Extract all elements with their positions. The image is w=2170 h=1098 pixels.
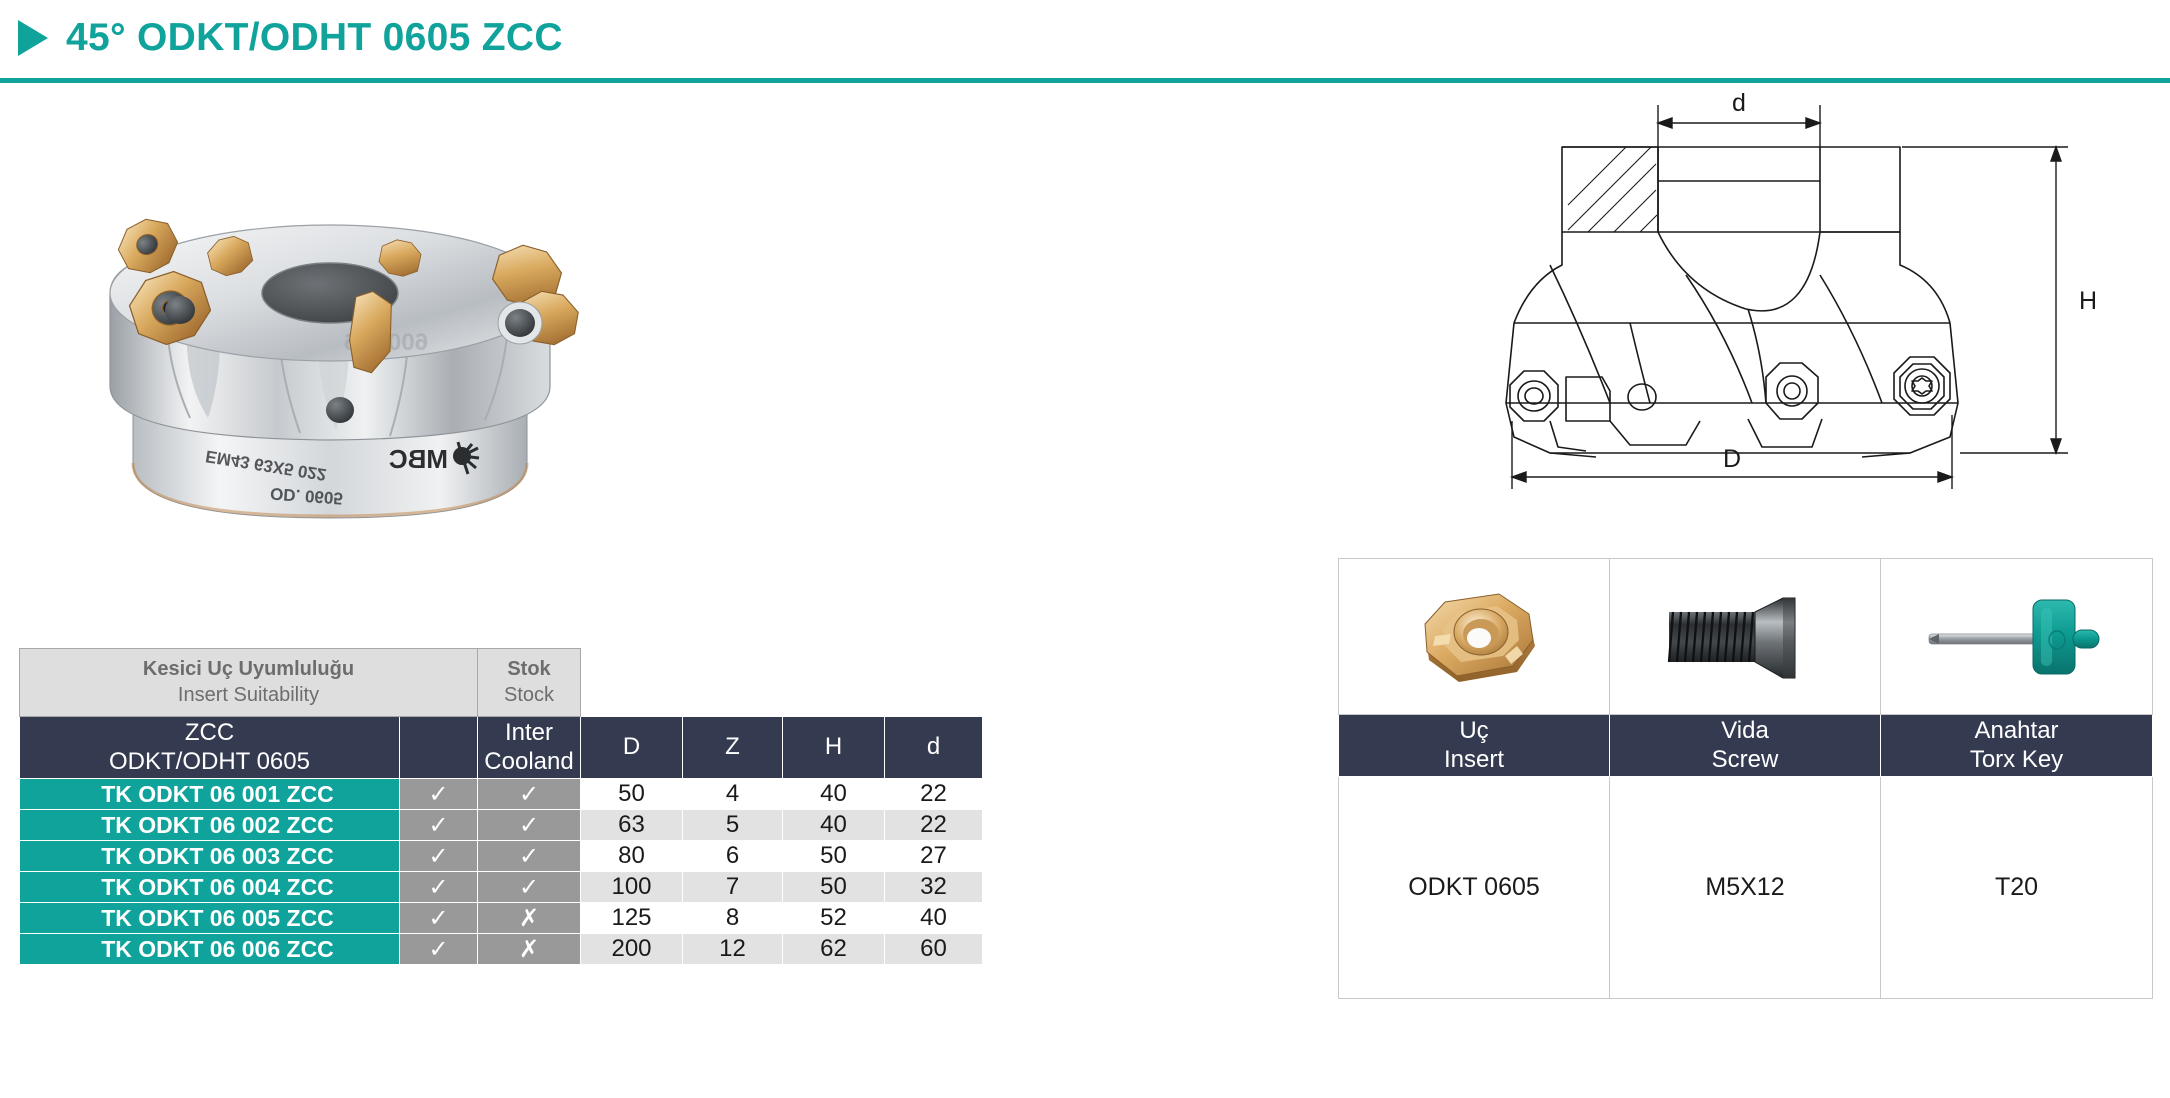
specification-table: Kesici Uç Uyumluluğu Insert Suitability … [19, 648, 983, 965]
zcc-mark-check-icon: ✓ [400, 872, 478, 903]
dim-label-H: H [2079, 287, 2097, 315]
value-H: 40 [783, 779, 885, 810]
group-header-stock: Stok Stock [478, 649, 581, 717]
column-header-code-line1: ZCC [20, 719, 399, 748]
value-H: 62 [783, 934, 885, 965]
zcc-mark-check-icon: ✓ [400, 841, 478, 872]
column-header-code-line2: ODKT/ODHT 0605 [20, 748, 399, 777]
triangle-right-icon [18, 20, 48, 56]
product-code: TK ODKT 06 004 ZCC [20, 872, 400, 903]
value-d: 40 [885, 903, 983, 934]
group-header-insert-suitability-en: Insert Suitability [20, 683, 477, 709]
value-d: 22 [885, 810, 983, 841]
accessory-value-insert: ODKT 0605 [1339, 777, 1610, 999]
svg-text:MBC: MBC [389, 444, 448, 474]
value-Z: 8 [683, 903, 783, 934]
accessory-header-screw-en: Screw [1610, 746, 1880, 775]
inter-cooland-check-icon: ✓ [478, 810, 581, 841]
group-header-insert-suitability: Kesici Uç Uyumluluğu Insert Suitability [20, 649, 478, 717]
group-header-row: Kesici Uç Uyumluluğu Insert Suitability … [20, 649, 983, 717]
octagonal-insert-photo [1339, 559, 1610, 715]
value-D: 100 [581, 872, 683, 903]
catalog-page: 45° ODKT/ODHT 0605 ZCC [0, 0, 2170, 1098]
accessory-table: Uç Insert Vida Screw Anahtar Torx Key OD… [1338, 558, 2153, 999]
value-D: 200 [581, 934, 683, 965]
column-header-row: ZCC ODKT/ODHT 0605 Inter Cooland D Z H d [20, 717, 983, 779]
value-H: 52 [783, 903, 885, 934]
column-header-code: ZCC ODKT/ODHT 0605 [20, 717, 400, 779]
accessory-header-torx-key-tr: Anahtar [1881, 717, 2152, 746]
value-Z: 5 [683, 810, 783, 841]
table-row: TK ODKT 06 001 ZCC ✓ ✓ 50 4 40 22 [20, 779, 983, 810]
zcc-mark-check-icon: ✓ [400, 903, 478, 934]
inter-cooland-check-icon: ✓ [478, 779, 581, 810]
accessory-header-torx-key-en: Torx Key [1881, 746, 2152, 775]
header-divider [0, 78, 2170, 83]
table-row: TK ODKT 06 004 ZCC ✓ ✓ 100 7 50 32 [20, 872, 983, 903]
zcc-mark-check-icon: ✓ [400, 779, 478, 810]
value-D: 125 [581, 903, 683, 934]
group-header-stock-en: Stock [478, 683, 580, 709]
inter-cooland-check-icon: ✓ [478, 841, 581, 872]
table-row: TK ODKT 06 006 ZCC ✓ ✗ 200 12 62 60 [20, 934, 983, 965]
value-H: 40 [783, 810, 885, 841]
table-row: TK ODKT 06 002 ZCC ✓ ✓ 63 5 40 22 [20, 810, 983, 841]
dim-label-D: D [1723, 445, 1741, 473]
column-header-inter-cooland-line1: Inter [478, 719, 580, 748]
value-H: 50 [783, 841, 885, 872]
accessory-header-insert-en: Insert [1339, 746, 1609, 775]
product-code: TK ODKT 06 002 ZCC [20, 810, 400, 841]
inter-cooland-cross-icon: ✗ [478, 903, 581, 934]
value-d: 60 [885, 934, 983, 965]
value-D: 80 [581, 841, 683, 872]
product-code: TK ODKT 06 001 ZCC [20, 779, 400, 810]
face-mill-section-drawing: d H D [1490, 85, 2170, 505]
column-header-d: d [885, 717, 983, 779]
zcc-mark-check-icon: ✓ [400, 810, 478, 841]
value-d: 27 [885, 841, 983, 872]
group-header-insert-suitability-tr: Kesici Uç Uyumluluğu [20, 657, 477, 683]
dim-label-d: d [1732, 89, 1746, 117]
face-mill-cutter-photo: EM43 63X5 022 OD. 0605 MBC [30, 118, 630, 548]
column-header-Z: Z [683, 717, 783, 779]
accessory-header-screw-tr: Vida [1610, 717, 1880, 746]
group-header-stock-tr: Stok [478, 657, 580, 683]
table-row: TK ODKT 06 003 ZCC ✓ ✓ 80 6 50 27 [20, 841, 983, 872]
value-D: 63 [581, 810, 683, 841]
accessory-header-row: Uç Insert Vida Screw Anahtar Torx Key [1339, 715, 2153, 777]
zcc-mark-check-icon: ✓ [400, 934, 478, 965]
accessory-header-torx-key: Anahtar Torx Key [1881, 715, 2153, 777]
table-row: TK ODKT 06 005 ZCC ✓ ✗ 125 8 52 40 [20, 903, 983, 934]
value-Z: 6 [683, 841, 783, 872]
torx-key-photo [1881, 559, 2153, 715]
column-header-H: H [783, 717, 885, 779]
value-d: 22 [885, 779, 983, 810]
accessory-value-torx-key: T20 [1881, 777, 2153, 999]
product-code: TK ODKT 06 003 ZCC [20, 841, 400, 872]
accessory-value-row: ODKT 0605 M5X12 T20 [1339, 777, 2153, 999]
value-Z: 12 [683, 934, 783, 965]
column-header-zcc-mark [400, 717, 478, 779]
accessory-value-screw: M5X12 [1610, 777, 1881, 999]
product-code: TK ODKT 06 006 ZCC [20, 934, 400, 965]
header-title-row: 45° ODKT/ODHT 0605 ZCC [18, 16, 563, 60]
page-header: 45° ODKT/ODHT 0605 ZCC [0, 0, 2170, 88]
torx-screw-photo [1610, 559, 1881, 715]
column-header-inter-cooland-line2: Cooland [478, 748, 580, 777]
value-d: 32 [885, 872, 983, 903]
accessory-header-insert: Uç Insert [1339, 715, 1610, 777]
value-Z: 7 [683, 872, 783, 903]
value-Z: 4 [683, 779, 783, 810]
value-H: 50 [783, 872, 885, 903]
accessory-header-screw: Vida Screw [1610, 715, 1881, 777]
page-title: 45° ODKT/ODHT 0605 ZCC [66, 16, 563, 60]
inter-cooland-check-icon: ✓ [478, 872, 581, 903]
inter-cooland-cross-icon: ✗ [478, 934, 581, 965]
value-D: 50 [581, 779, 683, 810]
column-header-inter-cooland: Inter Cooland [478, 717, 581, 779]
column-header-D: D [581, 717, 683, 779]
product-code: TK ODKT 06 005 ZCC [20, 903, 400, 934]
group-header-spacer [581, 649, 983, 717]
accessory-header-insert-tr: Uç [1339, 717, 1609, 746]
accessory-image-row [1339, 559, 2153, 715]
